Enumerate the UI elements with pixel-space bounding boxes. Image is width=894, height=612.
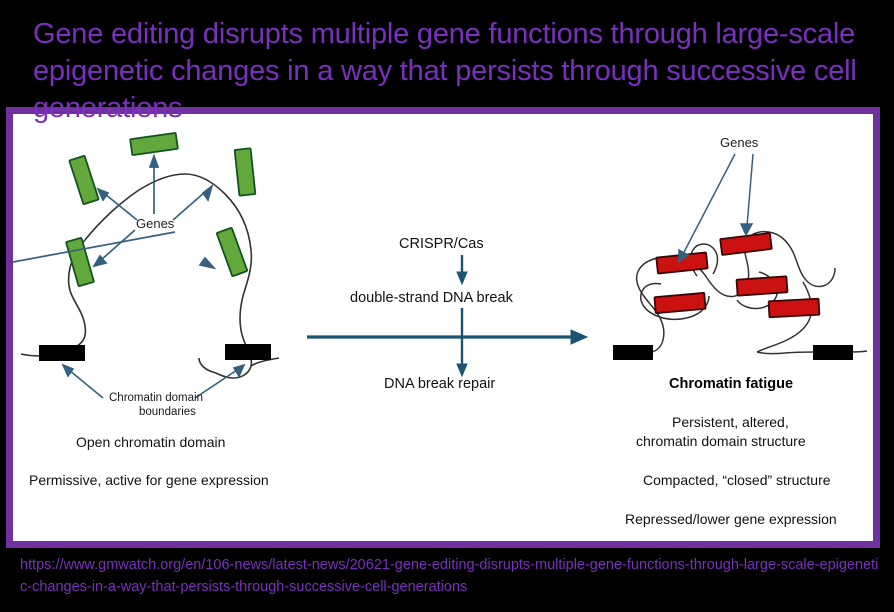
boundary-label-line1: Chromatin domain — [109, 392, 203, 404]
left-chromatin-structure — [13, 133, 279, 398]
gene-box-left-2 — [69, 156, 98, 205]
right-caption-line1: Persistent, altered, — [672, 414, 789, 430]
right-heading-chromatin-fatigue: Chromatin fatigue — [669, 376, 793, 392]
center-step-repair: DNA break repair — [384, 376, 495, 392]
right-chromatin-structure — [613, 154, 867, 360]
right-caption-line3: Compacted, “closed” structure — [643, 472, 831, 488]
gene-box-left-1 — [130, 133, 178, 155]
right-genes-label: Genes — [720, 135, 758, 150]
center-step-crispr: CRISPR/Cas — [399, 236, 484, 252]
chromatin-fiber-left-tail — [199, 358, 213, 372]
right-caption-line4: Repressed/lower gene expression — [625, 511, 837, 527]
gene-pointer-arrows-left — [13, 156, 214, 268]
left-caption-open-domain: Open chromatin domain — [76, 434, 225, 450]
gene-box-right-2 — [654, 293, 705, 313]
figure-panel: Genes Chromatin domain boundaries Open c… — [6, 107, 880, 548]
right-caption-line2: chromatin domain structure — [636, 433, 806, 449]
gene-box-right-5 — [769, 299, 820, 318]
boundary-label-line2: boundaries — [139, 406, 196, 418]
source-url[interactable]: https://www.gmwatch.org/en/106-news/late… — [20, 554, 880, 598]
boundary-block-right-left — [613, 345, 653, 360]
center-process-arrows — [307, 255, 587, 376]
left-caption-permissive: Permissive, active for gene expression — [29, 472, 269, 488]
boundary-block-left — [39, 345, 85, 361]
gene-box-left-4 — [235, 148, 256, 195]
chromatin-fiber-right-f — [757, 352, 819, 354]
center-step-dsb: double-strand DNA break — [350, 290, 513, 306]
gene-box-right-4 — [737, 276, 788, 295]
boundary-block-right — [225, 344, 271, 360]
left-genes-label: Genes — [136, 216, 174, 231]
gene-box-left-5 — [217, 228, 248, 277]
figure-canvas: Genes Chromatin domain boundaries Open c… — [13, 114, 873, 541]
slide-title: Gene editing disrupts multiple gene func… — [33, 16, 873, 127]
gene-box-left-3 — [66, 238, 94, 287]
boundary-block-right-right — [813, 345, 853, 360]
